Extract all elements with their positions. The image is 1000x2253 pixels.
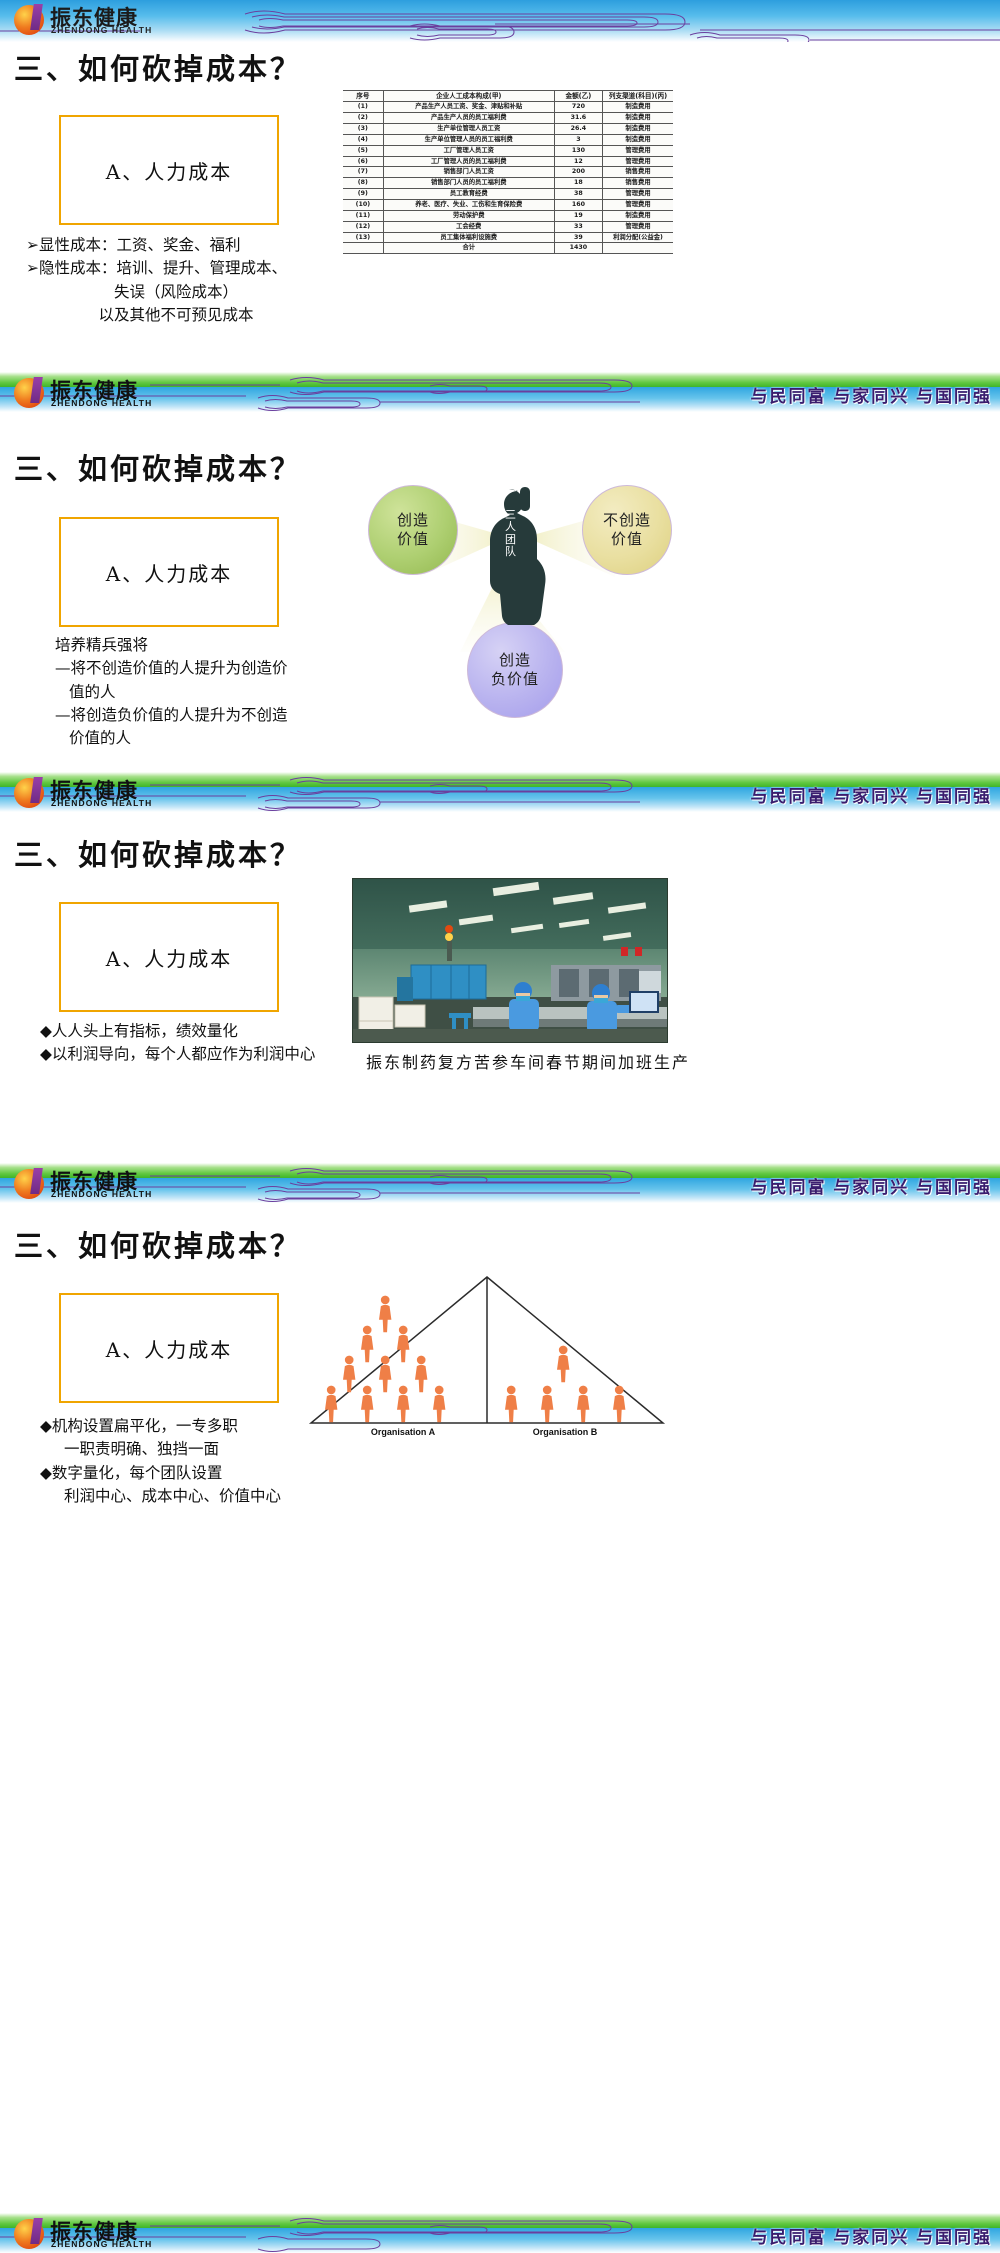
cell-amount: 39 bbox=[554, 232, 602, 243]
cell-no: (1) bbox=[343, 102, 383, 113]
circle-create-value: 创造 价值 bbox=[368, 485, 458, 575]
table-row: (10)养老、医疗、失业、工伤和生育保险费160管理费用 bbox=[343, 199, 673, 210]
slide-3-bullet-1: ◆以利润导向，每个人都应作为利润中心 bbox=[40, 1043, 360, 1066]
cell-channel: 利润分配(公益金) bbox=[603, 232, 673, 243]
slide-4-bullet-2: ◆数字量化，每个团队设置 bbox=[40, 1462, 360, 1485]
cell-amount: 12 bbox=[554, 156, 602, 167]
band-3: 振东健康 ZHENDONG HEALTH 与民同富 与家同兴 与国同强 bbox=[0, 1163, 1000, 1203]
table-row: (9)员工教育经费38管理费用 bbox=[343, 189, 673, 200]
cell-amount: 130 bbox=[554, 145, 602, 156]
cell-amount: 18 bbox=[554, 178, 602, 189]
cell-amount: 31.6 bbox=[554, 113, 602, 124]
cell-amount: 200 bbox=[554, 167, 602, 178]
org-structure-graphic bbox=[305, 1273, 670, 1443]
cell-item: 产品生产人员工资、奖金、津贴和补贴 bbox=[383, 102, 554, 113]
slide-2: 三、如何砍掉成本？ A、人力成本 培养精兵强将 —将不创造价值的人提升为创造价 … bbox=[0, 412, 1000, 772]
cell-amount: 720 bbox=[554, 102, 602, 113]
cell-no: (6) bbox=[343, 156, 383, 167]
cell-channel: 管理费用 bbox=[603, 221, 673, 232]
slide-4-bullet-3: 利润中心、成本中心、价值中心 bbox=[40, 1485, 360, 1508]
table-total-row: 合计 1430 bbox=[343, 243, 673, 254]
table-row: (8)销售部门人员的员工福利费18销售费用 bbox=[343, 178, 673, 189]
cell-item: 工会经费 bbox=[383, 221, 554, 232]
table-row: (1)产品生产人员工资、奖金、津贴和补贴720制造费用 bbox=[343, 102, 673, 113]
th-channel: 列支渠道(科目)(丙) bbox=[603, 91, 673, 102]
circle-no-create-value-label: 不创造 价值 bbox=[603, 511, 651, 549]
cell-item: 员工集体福利设施费 bbox=[383, 232, 554, 243]
cell-no: (11) bbox=[343, 210, 383, 221]
slide-2-highlight-box: A、人力成本 bbox=[59, 517, 279, 627]
cell-amount: 33 bbox=[554, 221, 602, 232]
cell-channel: 管理费用 bbox=[603, 145, 673, 156]
total-channel bbox=[603, 243, 673, 254]
cell-channel: 管理费用 bbox=[603, 189, 673, 200]
brand-logo: 振东健康 ZHENDONG HEALTH bbox=[14, 377, 254, 411]
circle-create-value-label: 创造 价值 bbox=[397, 511, 429, 549]
brand-logo: 振东健康 ZHENDONG HEALTH bbox=[14, 2218, 254, 2252]
slide-3-bullets: ◆人人头上有指标，绩效量化 ◆以利润导向，每个人都应作为利润中心 bbox=[40, 1020, 360, 1067]
slide-2-box-label: A、人力成本 bbox=[106, 558, 232, 587]
band-motto: 与民同富 与家同兴 与国同强 bbox=[751, 2223, 992, 2248]
photo-caption: 振东制药复方苦参车间春节期间加班生产 bbox=[366, 1049, 690, 1073]
cell-amount: 38 bbox=[554, 189, 602, 200]
th-item: 企业人工成本构成(甲) bbox=[383, 91, 554, 102]
band-1: 振东健康 ZHENDONG HEALTH 与民同富 与家同兴 与国同强 bbox=[0, 372, 1000, 412]
org-b-label: Organisation B bbox=[505, 1427, 625, 1437]
slide-1-highlight-box: A、人力成本 bbox=[59, 115, 279, 225]
slide-1-bullet-2: 失误（风险成本） bbox=[26, 281, 326, 304]
cell-channel: 管理费用 bbox=[603, 156, 673, 167]
cell-item: 养老、医疗、失业、工伤和生育保险费 bbox=[383, 199, 554, 210]
brand-logo: 振东健康 ZHENDONG HEALTH bbox=[14, 4, 254, 38]
table-row: (2)产品生产人员的员工福利费31.6制造费用 bbox=[343, 113, 673, 124]
brand-name-en: ZHENDONG HEALTH bbox=[51, 798, 152, 808]
factory-photo-content bbox=[353, 879, 668, 1043]
cell-item: 生产单位管理人员工资 bbox=[383, 123, 554, 134]
cell-channel: 制造费用 bbox=[603, 123, 673, 134]
cell-item: 劳动保护费 bbox=[383, 210, 554, 221]
slide-1: 振东健康 ZHENDONG HEALTH 三、如何砍掉成本？ A、人力成本 ➢显… bbox=[0, 0, 1000, 368]
table-header-row: 序号 企业人工成本构成(甲) 金额(乙) 列支渠道(科目)(丙) bbox=[343, 91, 673, 102]
slide-3-title: 三、如何砍掉成本？ bbox=[14, 832, 302, 874]
slide-2-bullets: 培养精兵强将 —将不创造价值的人提升为创造价 值的人 —将创造负价值的人提升为不… bbox=[55, 634, 355, 750]
slide-2-bullet-4: 价值的人 bbox=[55, 727, 355, 750]
cell-no: (5) bbox=[343, 145, 383, 156]
cell-channel: 制造费用 bbox=[603, 113, 673, 124]
slide-1-title: 三、如何砍掉成本？ bbox=[14, 46, 302, 88]
cell-amount: 26.4 bbox=[554, 123, 602, 134]
slide-1-bullet-0: ➢显性成本：工资、奖金、福利 bbox=[26, 234, 326, 257]
cell-no: (4) bbox=[343, 134, 383, 145]
table-row: (13)员工集体福利设施费39利润分配(公益金) bbox=[343, 232, 673, 243]
slide-1-bullets: ➢显性成本：工资、奖金、福利 ➢隐性成本：培训、提升、管理成本、 失误（风险成本… bbox=[26, 234, 326, 327]
cell-item: 工厂管理人员的员工福利费 bbox=[383, 156, 554, 167]
table-body: (1)产品生产人员工资、奖金、津贴和补贴720制造费用 (2)产品生产人员的员工… bbox=[343, 102, 673, 254]
band-2: 振东健康 ZHENDONG HEALTH 与民同富 与家同兴 与国同强 bbox=[0, 772, 1000, 812]
cell-no: (12) bbox=[343, 221, 383, 232]
org-structure-diagram: Organisation A Organisation B bbox=[305, 1273, 670, 1443]
cell-item: 生产单位管理人员的员工福利费 bbox=[383, 134, 554, 145]
slide-4-title: 三、如何砍掉成本？ bbox=[14, 1223, 302, 1265]
slide-2-bullet-1: —将不创造价值的人提升为创造价 bbox=[55, 657, 355, 680]
cell-amount: 3 bbox=[554, 134, 602, 145]
team-figure-label: 三 人 团 队 bbox=[493, 509, 529, 558]
cell-channel: 销售费用 bbox=[603, 178, 673, 189]
slide-3-highlight-box: A、人力成本 bbox=[59, 902, 279, 1012]
th-no: 序号 bbox=[343, 91, 383, 102]
table-row: (6)工厂管理人员的员工福利费12管理费用 bbox=[343, 156, 673, 167]
cell-channel: 管理费用 bbox=[603, 199, 673, 210]
cell-item: 工厂管理人员工资 bbox=[383, 145, 554, 156]
slide-1-bullet-3: 以及其他不可预见成本 bbox=[26, 304, 326, 327]
cell-item: 员工教育经费 bbox=[383, 189, 554, 200]
band-motto: 与民同富 与家同兴 与国同强 bbox=[751, 1173, 992, 1198]
cell-no: (7) bbox=[343, 167, 383, 178]
cell-no: (8) bbox=[343, 178, 383, 189]
band-motto: 与民同富 与家同兴 与国同强 bbox=[751, 382, 992, 407]
slide-1-box-label: A、人力成本 bbox=[106, 156, 232, 185]
slide-1-bullet-1: ➢隐性成本：培训、提升、管理成本、 bbox=[26, 257, 326, 280]
table-row: (3)生产单位管理人员工资26.4制造费用 bbox=[343, 123, 673, 134]
brand-name-en: ZHENDONG HEALTH bbox=[51, 398, 152, 408]
value-circles-diagram: 创造 价值 不创造 价值 创造 负价值 三 人 团 队 bbox=[350, 477, 680, 727]
brand-name-en: ZHENDONG HEALTH bbox=[51, 1189, 152, 1199]
cell-amount: 160 bbox=[554, 199, 602, 210]
slide-2-title: 三、如何砍掉成本？ bbox=[14, 446, 302, 488]
circle-no-create-value: 不创造 价值 bbox=[582, 485, 672, 575]
slide-3-bullet-0: ◆人人头上有指标，绩效量化 bbox=[40, 1020, 360, 1043]
slide-3-box-label: A、人力成本 bbox=[106, 943, 232, 972]
table-row: (7)销售部门人员工资200销售费用 bbox=[343, 167, 673, 178]
cell-item: 产品生产人员的员工福利费 bbox=[383, 113, 554, 124]
brand-name-en: ZHENDONG HEALTH bbox=[51, 25, 152, 35]
table-row: (4)生产单位管理人员的员工福利费3制造费用 bbox=[343, 134, 673, 145]
factory-photo bbox=[352, 878, 668, 1043]
brand-logo: 振东健康 ZHENDONG HEALTH bbox=[14, 777, 254, 811]
slide-2-bullet-0: 培养精兵强将 bbox=[55, 634, 355, 657]
cell-no: (3) bbox=[343, 123, 383, 134]
slide-3: 三、如何砍掉成本？ A、人力成本 ◆人人头上有指标，绩效量化 ◆以利润导向，每个… bbox=[0, 812, 1000, 1157]
slide-4: 三、如何砍掉成本？ A、人力成本 ◆机构设置扁平化，一专多职 一职责明确、独挡一… bbox=[0, 1203, 1000, 2213]
band-motto: 与民同富 与家同兴 与国同强 bbox=[751, 782, 992, 807]
circle-negative-value-label: 创造 负价值 bbox=[491, 651, 539, 689]
brand-name-en: ZHENDONG HEALTH bbox=[51, 2239, 152, 2249]
cell-item: 销售部门人员工资 bbox=[383, 167, 554, 178]
total-value: 1430 bbox=[554, 243, 602, 254]
total-label: 合计 bbox=[383, 243, 554, 254]
th-amount: 金额(乙) bbox=[554, 91, 602, 102]
org-a-label: Organisation A bbox=[343, 1427, 463, 1437]
slide-4-box-label: A、人力成本 bbox=[106, 1334, 232, 1363]
slide-2-bullet-2: 值的人 bbox=[55, 681, 355, 704]
cell-no: (9) bbox=[343, 189, 383, 200]
cell-amount: 19 bbox=[554, 210, 602, 221]
slide-4-highlight-box: A、人力成本 bbox=[59, 1293, 279, 1403]
brand-logo: 振东健康 ZHENDONG HEALTH bbox=[14, 1168, 254, 1202]
band-4: 振东健康 ZHENDONG HEALTH 与民同富 与家同兴 与国同强 bbox=[0, 2213, 1000, 2253]
cell-no: (2) bbox=[343, 113, 383, 124]
slide-1-top-banner: 振东健康 ZHENDONG HEALTH bbox=[0, 0, 1000, 42]
cell-no: (13) bbox=[343, 232, 383, 243]
cell-channel: 制造费用 bbox=[603, 102, 673, 113]
cell-channel: 制造费用 bbox=[603, 134, 673, 145]
cell-item: 销售部门人员的员工福利费 bbox=[383, 178, 554, 189]
cell-channel: 销售费用 bbox=[603, 167, 673, 178]
cell-no: (10) bbox=[343, 199, 383, 210]
circle-negative-value: 创造 负价值 bbox=[467, 622, 563, 718]
labor-cost-table: 序号 企业人工成本构成(甲) 金额(乙) 列支渠道(科目)(丙) (1)产品生产… bbox=[343, 90, 673, 254]
table-row: (12)工会经费33管理费用 bbox=[343, 221, 673, 232]
cell-channel: 制造费用 bbox=[603, 210, 673, 221]
slide-2-bullet-3: —将创造负价值的人提升为不创造 bbox=[55, 704, 355, 727]
table-row: (5)工厂管理人员工资130管理费用 bbox=[343, 145, 673, 156]
total-empty bbox=[343, 243, 383, 254]
table-row: (11)劳动保护费19制造费用 bbox=[343, 210, 673, 221]
